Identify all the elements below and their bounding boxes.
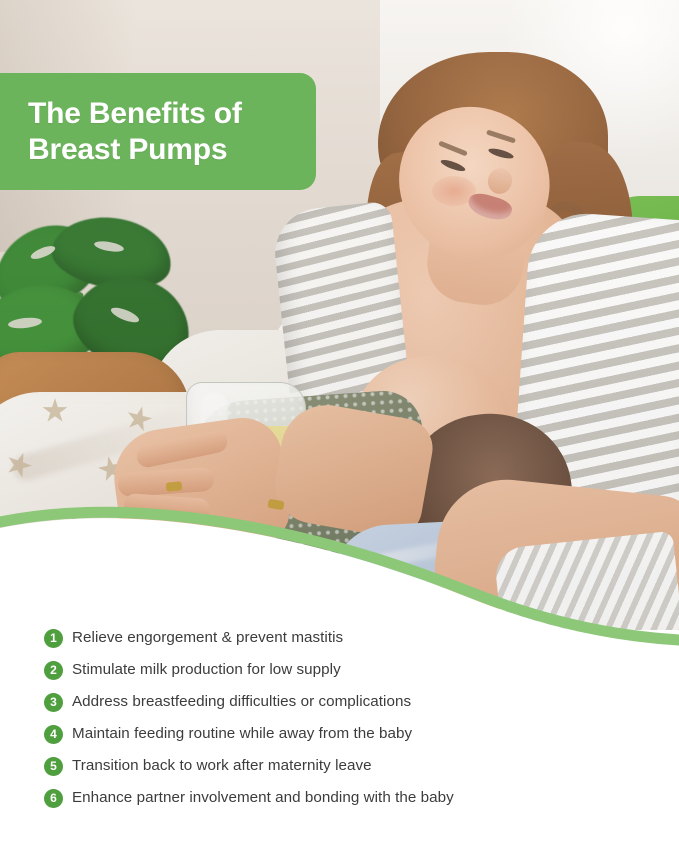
benefit-item-1: 1 Relieve engorgement & prevent mastitis	[44, 622, 644, 654]
title-banner: The Benefits of Breast Pumps	[0, 73, 316, 190]
benefit-text: Maintain feeding routine while away from…	[72, 726, 412, 743]
page-title: The Benefits of Breast Pumps	[28, 96, 242, 166]
benefit-number-badge: 3	[44, 693, 63, 712]
benefit-number-badge: 5	[44, 757, 63, 776]
benefit-item-6: 6 Enhance partner involvement and bondin…	[44, 782, 644, 814]
benefit-text: Stimulate milk production for low supply	[72, 662, 341, 679]
benefit-item-4: 4 Maintain feeding routine while away fr…	[44, 718, 644, 750]
benefit-text: Relieve engorgement & prevent mastitis	[72, 630, 343, 647]
benefit-text: Enhance partner involvement and bonding …	[72, 790, 454, 807]
benefit-item-3: 3 Address breastfeeding difficulties or …	[44, 686, 644, 718]
benefit-number-badge: 6	[44, 789, 63, 808]
white-garment	[493, 531, 679, 630]
benefit-item-2: 2 Stimulate milk production for low supp…	[44, 654, 644, 686]
benefit-text: Transition back to work after maternity …	[72, 758, 372, 775]
wedding-ring	[166, 481, 183, 492]
benefit-text: Address breastfeeding difficulties or co…	[72, 694, 411, 711]
benefit-item-5: 5 Transition back to work after maternit…	[44, 750, 644, 782]
benefit-number-badge: 4	[44, 725, 63, 744]
benefits-list: 1 Relieve engorgement & prevent mastitis…	[44, 622, 644, 814]
benefit-number-badge: 1	[44, 629, 63, 648]
benefit-number-badge: 2	[44, 661, 63, 680]
